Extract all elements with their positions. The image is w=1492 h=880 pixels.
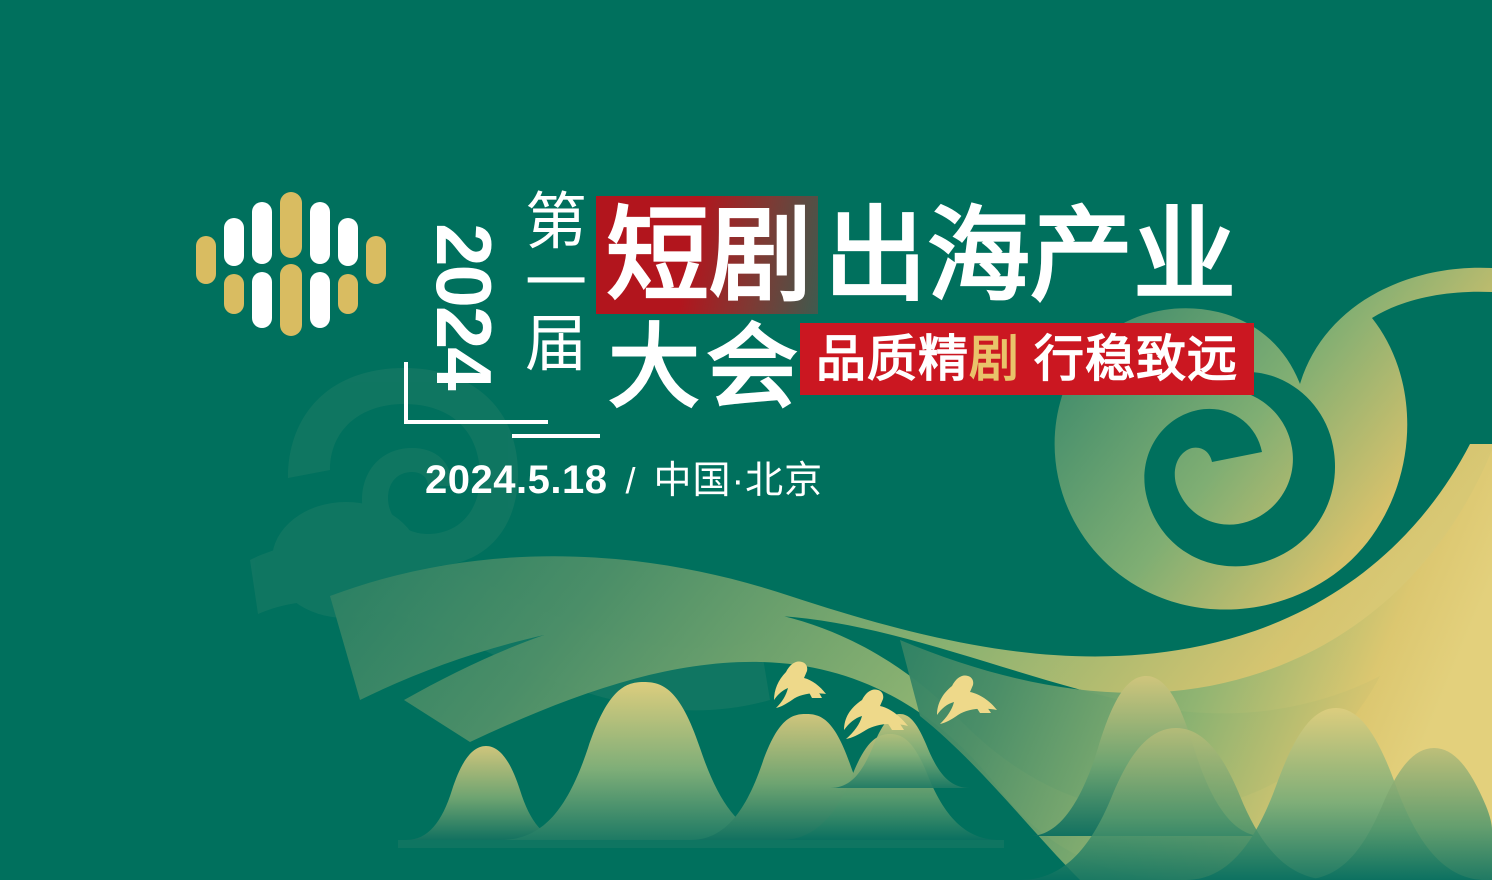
title-line-two-text: 大会	[608, 322, 804, 414]
title-highlight-text: 短剧	[606, 204, 812, 307]
logo-pill	[338, 218, 358, 266]
slogan-part-one: 品质精	[816, 334, 969, 384]
logo-pill	[338, 274, 358, 314]
crane-3	[937, 675, 997, 724]
conference-poster: 2024 第 一 届 短剧 出海产业 大会 品质精 剧 行稳致远 2024.5.…	[0, 0, 1492, 880]
auspicious-cloud-spiral	[1055, 268, 1492, 610]
logo-pill	[310, 272, 330, 328]
logo-pill	[196, 236, 216, 284]
event-date: 2024.5.18	[425, 458, 607, 503]
logo-pill	[310, 202, 330, 264]
event-location: 中国·北京	[653, 449, 823, 504]
slogan-accent-char: 剧	[969, 334, 1020, 384]
title-rest-text: 出海产业	[824, 204, 1236, 307]
logo-pill	[280, 192, 302, 258]
title-line-one: 短剧 出海产业	[596, 196, 1236, 314]
slogan-banner: 品质精 剧 行稳致远	[800, 323, 1254, 395]
background-decoration	[0, 0, 1492, 880]
flowing-ribbon-wave	[330, 444, 1492, 880]
title-line-two: 大会	[608, 318, 804, 418]
title-highlight-block: 短剧	[596, 196, 818, 314]
ordinal-underline	[512, 434, 600, 438]
title-rest-block: 出海产业	[818, 196, 1236, 314]
event-meta-line: 2024.5.18 / 中国·北京	[425, 449, 823, 504]
poster-background	[0, 0, 1492, 880]
logo-pill	[366, 236, 386, 284]
logo-pill	[224, 274, 244, 314]
layered-mountain-range	[1020, 676, 1492, 880]
ordinal-char-2: 一	[525, 254, 587, 315]
logo-pill	[252, 272, 272, 328]
logo-pill	[252, 202, 272, 264]
logo-pill	[280, 264, 302, 336]
edition-ordinal-block: 第 一 届	[512, 193, 600, 428]
mountain-range-front	[398, 678, 1004, 860]
logo-pill	[224, 218, 244, 266]
crane-1	[774, 661, 826, 708]
slogan-part-two: 行稳致远	[1034, 334, 1238, 384]
ordinal-char-1: 第	[525, 193, 587, 254]
meta-separator: /	[625, 460, 635, 502]
sound-wave-logo-icon	[196, 192, 386, 328]
crane-2	[844, 689, 908, 739]
ordinal-char-3: 届	[525, 315, 587, 376]
